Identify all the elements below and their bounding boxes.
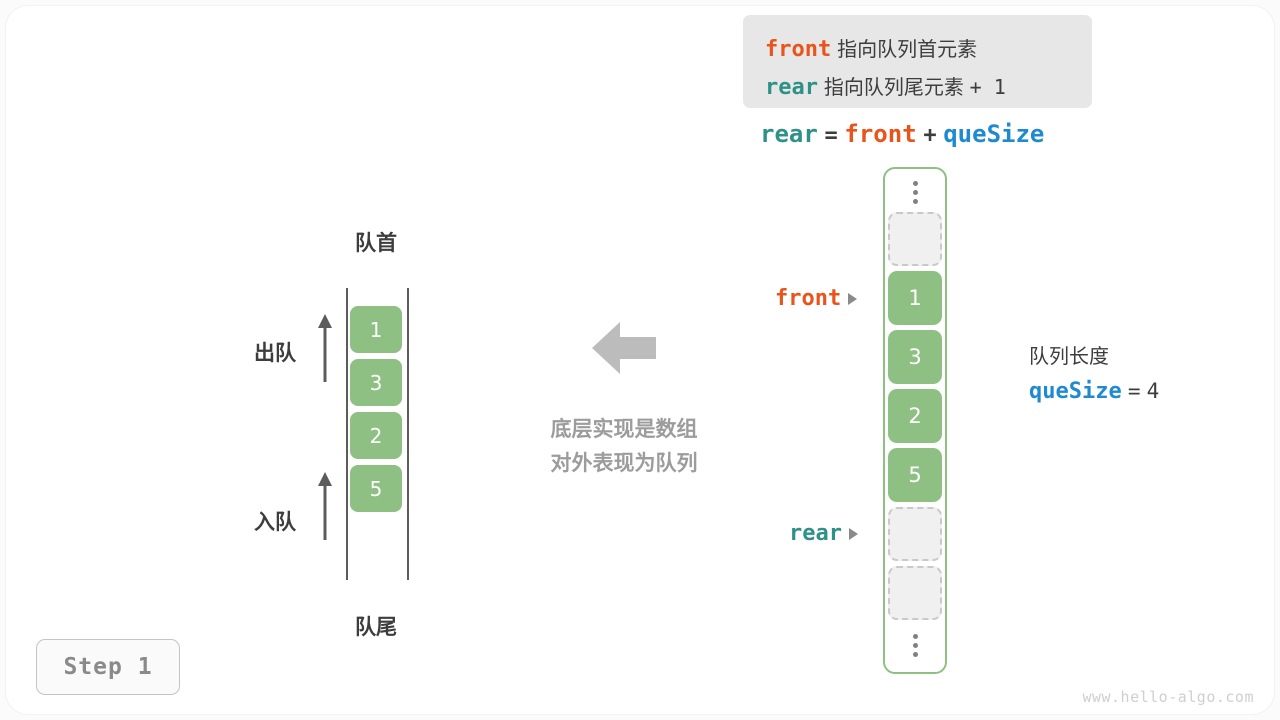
quesize-value: 4 [1147,379,1160,403]
enqueue-arrow-icon [317,472,333,545]
legend-suffix-rear: + 1 [970,75,1006,99]
array-cell: 5 [888,448,942,502]
formula-front: front [844,120,916,148]
queue-size-value-line: queSize = 4 [1029,379,1159,404]
array-cell-empty [888,212,942,266]
quesize-variable: queSize [1029,379,1122,404]
formula-equals: = [824,123,837,148]
enqueue-label: 入队 [254,506,296,536]
formula-lhs-rear: rear [760,120,818,148]
legend-keyword-front: front [765,37,831,62]
implementation-note-line2: 对外表现为队列 [508,446,740,480]
vertical-ellipsis-icon-top [908,181,922,204]
rear-formula: rear = front + queSize [760,120,1044,149]
dequeue-arrow-icon [317,314,333,387]
formula-plus: + [923,123,936,148]
queue-cell: 2 [350,412,402,459]
formula-quesize: queSize [943,120,1044,148]
implementation-note: 底层实现是数组 对外表现为队列 [508,412,740,480]
arrow-right-icon [849,528,858,540]
legend-line-front: front 指向队列首元素 [765,39,977,60]
array-cell: 2 [888,389,942,443]
implementation-note-line1: 底层实现是数组 [508,412,740,446]
queue-cell: 5 [350,465,402,512]
arrow-left-icon [592,320,656,381]
watermark: www.hello-algo.com [1082,688,1254,706]
queue-cell: 3 [350,359,402,406]
quesize-equals: = [1128,379,1141,403]
queue-tail-label: 队尾 [345,611,407,641]
arrow-right-icon [848,293,857,305]
queue-cell: 1 [350,306,402,353]
rear-pointer: rear [789,521,858,546]
legend-keyword-rear: rear [765,75,818,100]
queue-head-label: 队首 [345,227,407,257]
queue-rail-left [346,288,348,580]
rear-pointer-label: rear [789,521,842,546]
array-cell-empty [888,507,942,561]
queue-size-title: 队列长度 [1029,342,1159,370]
front-pointer: front [775,286,857,311]
front-pointer-label: front [775,286,841,311]
legend-line-rear: rear 指向队列尾元素 + 1 [765,77,1006,98]
array-cell: 1 [888,271,942,325]
diagram-canvas: front 指向队列首元素 rear 指向队列尾元素 + 1 rear = fr… [0,0,1280,720]
dequeue-label: 出队 [254,337,296,367]
array-cell-empty [888,566,942,620]
step-badge: Step 1 [36,639,180,695]
vertical-ellipsis-icon-bottom [908,634,922,657]
queue-size-annotation: 队列长度 queSize = 4 [1029,342,1159,404]
pointer-legend-box: front 指向队列首元素 rear 指向队列尾元素 + 1 [743,15,1092,108]
queue-rail-right [407,288,409,580]
legend-description-front: 指向队列首元素 [837,37,977,61]
array-cell: 3 [888,330,942,384]
legend-description-rear: 指向队列尾元素 [824,75,964,99]
